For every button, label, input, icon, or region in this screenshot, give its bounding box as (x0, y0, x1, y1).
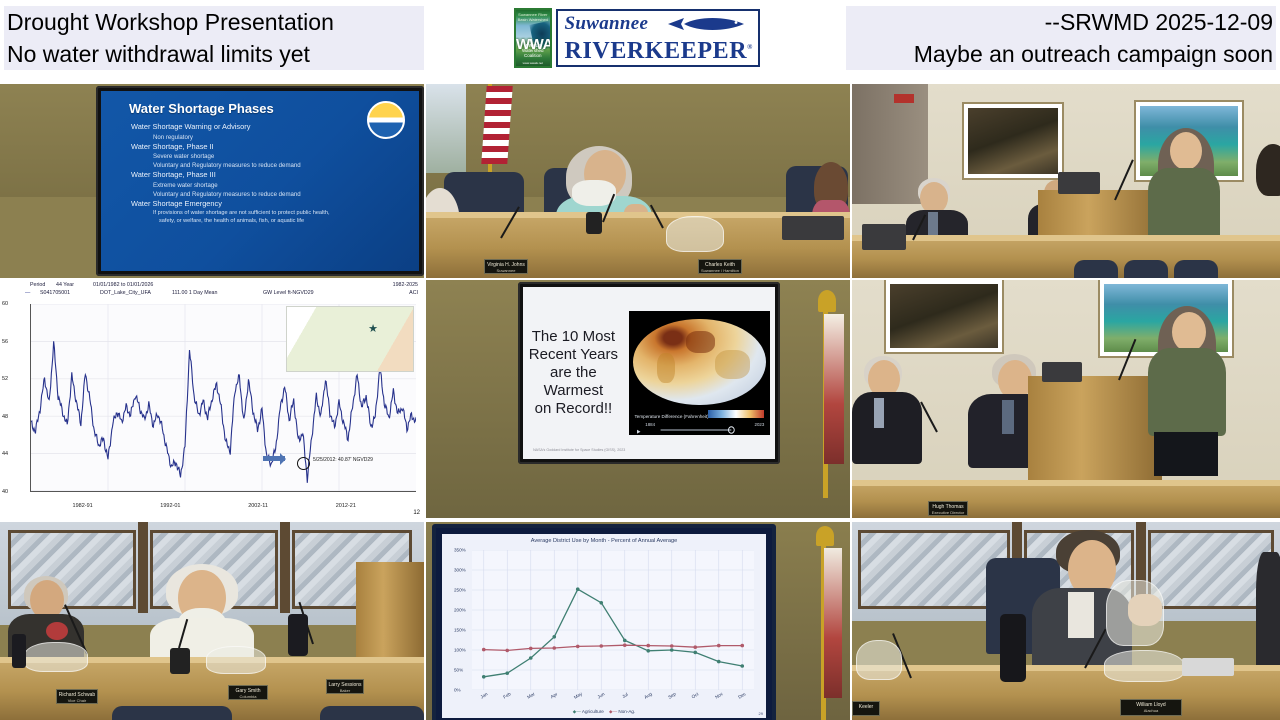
panel-water-shortage-phases[interactable]: Water Shortage Phases Water Shortage War… (0, 84, 424, 278)
header-title-line2: No water withdrawal limits yet (4, 38, 424, 70)
slide-page-number: 29 (759, 711, 763, 716)
slide-number: 12 (413, 510, 420, 516)
header-right-captions: --SRWMD 2025-12-09 Maybe an outreach cam… (846, 6, 1276, 70)
y-tick-label: 300% (454, 568, 466, 573)
parameter: GW Level ft-NGVD29 (263, 290, 314, 296)
groundwater-level-chart: Period 44 Year 01/01/1982 to 01/01/2026 … (0, 280, 424, 518)
wwals-url-text: www.wwals.net (516, 61, 550, 65)
y-tick-label: 100% (454, 648, 466, 653)
riverkeeper-wordmark-box: Suwannee RIVERKEEPER® (556, 9, 760, 67)
snack-bag (24, 642, 88, 672)
nameplate-name: Keeler (859, 704, 873, 710)
station-star-marker: ★ (368, 322, 378, 335)
riverkeeper-word-text: RIVERKEEPER (565, 38, 748, 64)
period-label: Period (30, 282, 45, 288)
site-name: DOT_Lake_City_UFA (100, 290, 151, 296)
year-start-label: 1884 (645, 422, 655, 427)
paper-stack (1182, 658, 1234, 676)
riverkeeper-word: RIVERKEEPER® (565, 34, 753, 64)
panel-member-speaking[interactable]: Keeler William Lloyd Alachua (852, 522, 1280, 720)
laptop-icon (782, 216, 844, 240)
x-tick-label: 2002-11 (248, 503, 268, 509)
dais-desk (852, 480, 1280, 518)
room-backdrop (852, 84, 1280, 278)
laptop-icon (1058, 172, 1100, 194)
annotation-circle-icon (297, 457, 310, 470)
y-tick-label: 0% (454, 688, 461, 693)
podium (1028, 376, 1162, 480)
y-tick-label: 52 (2, 376, 8, 382)
x-tick-label: Aug (643, 691, 653, 700)
x-tick-label: Apr (550, 691, 559, 699)
y-tick-label: 60 (2, 301, 8, 307)
panel-warmest-years-slide[interactable]: The 10 Most Recent Years are the Warmest… (426, 280, 850, 518)
flag-finial-icon (818, 290, 836, 312)
nameplate: William Lloyd Alachua (1120, 699, 1182, 716)
global-temperature-map: Temperature Difference (Fahrenheit) ▶ 18… (629, 311, 770, 435)
wwals-logo-top-text: Suwannee River Basin Watershed (516, 12, 550, 22)
nameplate: Gary Smith Columbia (228, 685, 268, 700)
snack-bag (206, 646, 266, 674)
x-tick-label: May (573, 691, 583, 700)
x-tick-label: Oct (691, 691, 700, 699)
x-tick-label: 2012-21 (336, 503, 356, 509)
year-span: 1982-2025 (393, 282, 418, 288)
florida-inset-map (286, 306, 414, 372)
projection-screen: Average District Use by Month - Percent … (432, 524, 776, 720)
chart-plot-area (472, 550, 754, 690)
slide-body: Water Shortage Phases Water Shortage War… (101, 91, 419, 271)
x-tick-label: Nov (714, 691, 724, 700)
nameplate: Larry Sessions Baker (326, 679, 364, 694)
tumbler-icon (12, 634, 26, 668)
average-district-use-chart: Average District Use by Month - Percent … (442, 534, 766, 718)
colorbar-label: Temperature Difference (Fahrenheit) (634, 414, 708, 419)
panel-board-and-podium[interactable]: Hugh Thomas Executive Director (852, 280, 1280, 518)
nameplate-sub: Vice Chair (57, 698, 97, 704)
us-flag (481, 86, 512, 164)
pitcher-icon (288, 614, 308, 656)
nameplate-sub: Suwannee (485, 268, 527, 274)
colorbar-icon (708, 410, 764, 418)
annotation-arrow-icon (263, 456, 285, 461)
microphone-base (586, 212, 602, 234)
headline-line: Recent Years (523, 346, 624, 364)
legend-marker-nonag: ◆— (609, 709, 617, 714)
y-tick-label: 48 (2, 414, 8, 420)
laptop-icon (862, 224, 906, 250)
room-backdrop: Hugh Thomas Executive Director (852, 280, 1280, 518)
y-tick-label: 250% (454, 588, 466, 593)
door (852, 84, 928, 204)
exit-sign (894, 94, 914, 103)
nameplate-sub: Columbia (229, 694, 267, 700)
y-tick-label: 150% (454, 628, 466, 633)
legend-marker-agriculture: ◆— (573, 709, 581, 714)
fish-icon (664, 15, 750, 33)
x-tick-label: Mar (526, 691, 535, 699)
legend-label-nonag: Non-Ag. (618, 709, 635, 714)
x-tick-label: Dec (737, 691, 747, 700)
panel-board-speaker[interactable]: Virginia H. Johns Suwannee Charles Keith… (426, 84, 850, 278)
nameplate: Virginia H. Johns Suwannee (484, 259, 528, 274)
snack-bag (1104, 650, 1184, 682)
chart-plot-area: ★ 5/25/2012: 40.87' NGVD29 (30, 304, 416, 492)
wwals-suwannee-riverkeeper-logo: Suwannee River Basin Watershed WWALS WWA… (514, 7, 760, 69)
panel-two-board-members[interactable]: Richard Schwab Vice Chair Gary Smith Col… (0, 522, 424, 720)
agency: ACI (409, 290, 418, 296)
slide-bullet: Voluntary and Regulatory measures to red… (153, 161, 419, 170)
nameplate: Keeler (852, 701, 880, 716)
microphone-base (170, 648, 190, 674)
framed-photo-swamp (886, 280, 1002, 352)
nameplate-sub: Executive Director (929, 510, 967, 516)
projection-screen: Water Shortage Phases Water Shortage War… (96, 86, 424, 276)
y-tick-label: 350% (454, 548, 466, 553)
legend-label-agriculture: Agriculture (582, 709, 604, 714)
headline-line: The 10 Most (523, 328, 624, 346)
header-note-line: Maybe an outreach campaign soon (846, 38, 1276, 70)
nameplate-sub: Baker (327, 688, 363, 694)
headline-line: are the (523, 364, 624, 382)
header-left-captions: Drought Workshop Presentation No water w… (4, 6, 424, 70)
nameplate: Hugh Thomas Executive Director (928, 501, 968, 516)
thermos-icon (1000, 614, 1026, 682)
slide-body: The 10 Most Recent Years are the Warmest… (523, 287, 775, 459)
headline-line: Warmest (523, 382, 624, 400)
flag-finial-icon (816, 526, 834, 546)
projection-screen: The 10 Most Recent Years are the Warmest… (518, 282, 780, 464)
depth-label: 111.00 1 Day Mean (172, 290, 217, 296)
chart-title: Average District Use by Month - Percent … (442, 538, 766, 544)
chart-legend: ◆— Agriculture ◆— Non-Ag. (442, 709, 766, 715)
registered-mark: ® (747, 43, 753, 51)
slide-bullet: Severe water shortage (153, 152, 419, 161)
wwals-logo-icon: Suwannee River Basin Watershed WWALS WWA… (514, 8, 552, 68)
chart-annotation: 5/25/2012: 40.87' NGVD29 (313, 457, 373, 463)
header-source-line: --SRWMD 2025-12-09 (846, 6, 1276, 38)
snack-bag (856, 640, 902, 680)
x-tick-label: Sep (667, 691, 677, 700)
state-flag (824, 314, 844, 464)
x-tick-label: Feb (503, 691, 512, 699)
room-backdrop: Keeler William Lloyd Alachua (852, 522, 1280, 720)
slide-bullet: Water Shortage, Phase II (131, 142, 419, 153)
date-range: 01/01/1982 to 01/01/2026 (93, 282, 153, 288)
chart-header: Period 44 Year 01/01/1982 to 01/01/2026 … (0, 282, 424, 302)
y-tick-label: 50% (454, 668, 463, 673)
y-tick-label: 40 (2, 489, 8, 495)
slide-credit: NASA's Goddard Institute for Space Studi… (533, 448, 625, 452)
x-tick-label: 1982-91 (73, 503, 93, 509)
nameplate: Richard Schwab Vice Chair (56, 689, 98, 704)
panel-groundwater-chart[interactable]: Period 44 Year 01/01/1982 to 01/01/2026 … (0, 280, 424, 518)
slide-bullet: If provisions of water shortage are not … (153, 209, 419, 217)
y-tick-label: 200% (454, 608, 466, 613)
x-tick-label: Jan (479, 691, 488, 699)
slide-headline: The 10 Most Recent Years are the Warmest… (523, 328, 624, 418)
page-header: Drought Workshop Presentation No water w… (0, 0, 1280, 84)
panel-district-use-chart[interactable]: Average District Use by Month - Percent … (426, 522, 850, 720)
state-flag (824, 548, 842, 698)
slide-bullet: Extreme water shortage (153, 181, 419, 190)
nameplate-sub: Suwannee / Hamilton (699, 268, 741, 274)
header-title-line1: Drought Workshop Presentation (4, 6, 424, 38)
laptop-icon (1042, 362, 1082, 382)
x-tick-label: Jun (597, 691, 606, 699)
snack-bag (666, 216, 724, 252)
room-backdrop: Richard Schwab Vice Chair Gary Smith Col… (0, 522, 424, 720)
world-map-globe (633, 319, 766, 406)
video-panel-grid: Water Shortage Phases Water Shortage War… (0, 84, 1280, 720)
slide-bullet: Water Shortage, Phase III (131, 170, 419, 181)
slide-bullet: safety, or welfare, the health of animal… (159, 217, 419, 225)
station-id: S041705001 (40, 290, 70, 296)
y-tick-label: 56 (2, 339, 8, 345)
nameplate: Charles Keith Suwannee / Hamilton (698, 259, 742, 274)
srwmd-seal-icon (367, 101, 405, 139)
nameplate-sub: Alachua (1121, 708, 1181, 714)
x-tick-label: 1992-01 (160, 503, 180, 509)
snack-bag (1106, 580, 1164, 646)
y-tick-label: 44 (2, 451, 8, 457)
panel-podium-speaker[interactable] (852, 84, 1280, 278)
framed-photo-swamp (964, 104, 1062, 178)
headline-line: on Record!! (523, 400, 624, 418)
room-backdrop: Virginia H. Johns Suwannee Charles Keith… (426, 84, 850, 278)
slide-bullet: Voluntary and Regulatory measures to red… (153, 190, 419, 199)
year-slider[interactable]: ▶ 1884 2023 (637, 422, 764, 432)
x-tick-label: Jul (621, 692, 629, 699)
svg-text:▶: ▶ (637, 429, 641, 435)
wwals-coalition-text: WWALS Watershed Coalition (516, 43, 550, 58)
slide-bullet: Water Shortage Emergency (131, 199, 419, 210)
period-value: 44 Year (56, 282, 74, 288)
year-end-label: 2023 (755, 422, 765, 427)
